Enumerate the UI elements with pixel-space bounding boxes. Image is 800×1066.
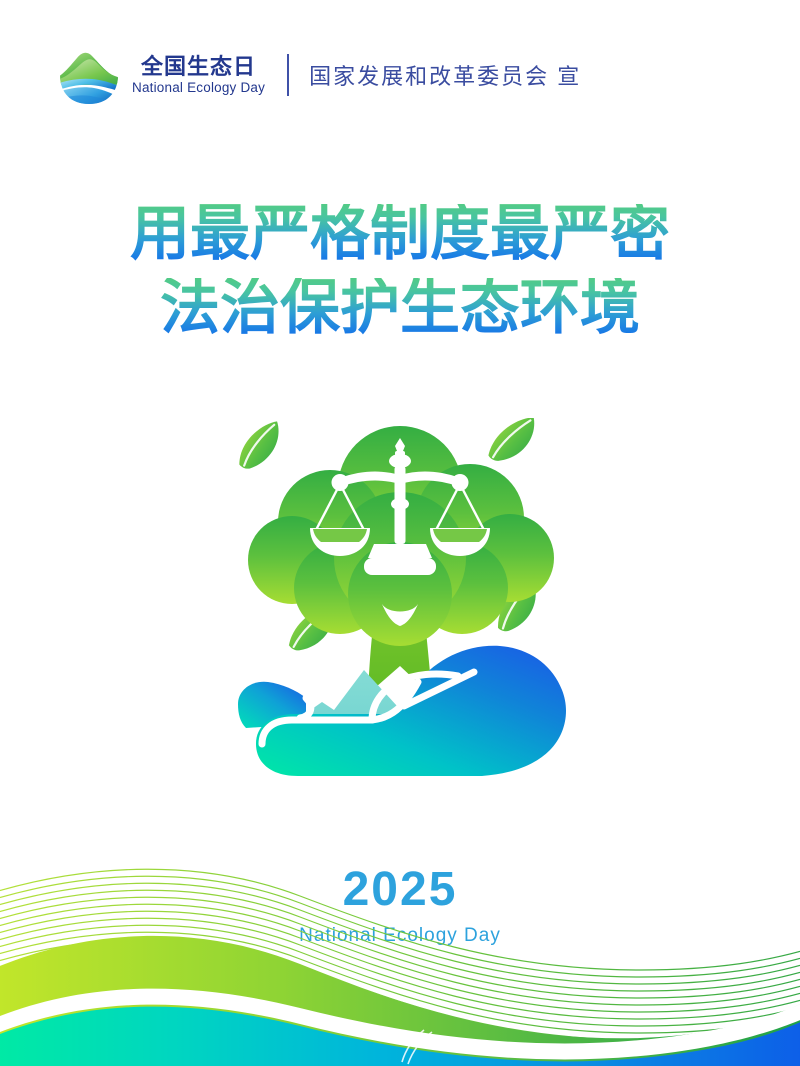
bottom-wave-decoration (0, 866, 800, 1066)
header-divider (287, 54, 289, 96)
ecology-day-logo-icon (58, 44, 120, 106)
poster-canvas: 全国生态日 National Ecology Day 国家发展和改革委员会 宣 … (0, 0, 800, 1066)
brand-name-cn: 全国生态日 (141, 54, 256, 79)
tree-justice-hand-illustration (222, 418, 582, 818)
headline-line-2: 法治保护生态环境 (0, 278, 800, 338)
page-title: 用最严格制度最严密 法治保护生态环境 (0, 204, 800, 338)
brand-name-en: National Ecology Day (132, 80, 265, 96)
publisher-label: 国家发展和改革委员会 宣 (309, 59, 581, 91)
header-bar: 全国生态日 National Ecology Day 国家发展和改革委员会 宣 (58, 44, 581, 106)
headline-line-1: 用最严格制度最严密 (0, 204, 800, 264)
brand-text-block: 全国生态日 National Ecology Day (132, 54, 265, 96)
